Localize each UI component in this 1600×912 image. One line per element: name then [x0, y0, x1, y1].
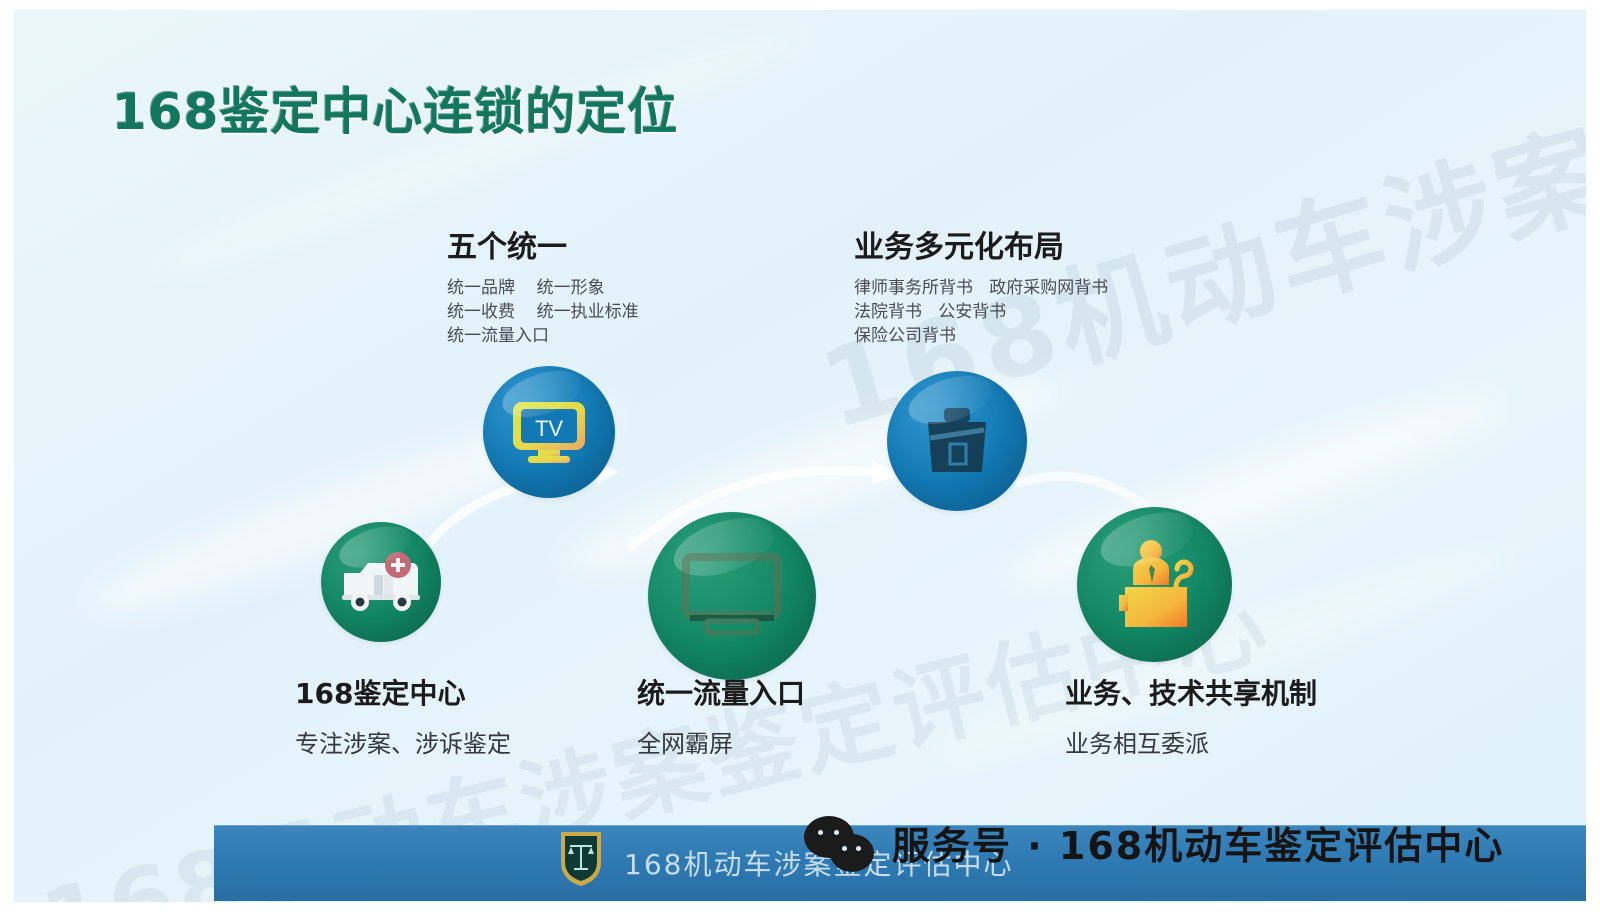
- node-label-sharing-mechanism: 业务、技术共享机制 业务相互委派: [1065, 672, 1317, 759]
- page-title: 168鉴定中心连锁的定位: [112, 72, 678, 144]
- block-heading: 五个统一: [447, 222, 639, 266]
- scales-shield-icon: [558, 828, 604, 888]
- label-title: 168鉴定中心: [295, 672, 511, 712]
- text-block-five-unified: 五个统一 统一品牌 统一形象 统一收费 统一执业标准 统一流量入口: [447, 222, 639, 348]
- block-line: 统一收费 统一执业标准: [447, 300, 639, 324]
- block-line: 统一品牌 统一形象: [447, 276, 639, 300]
- monitor-icon: [680, 553, 784, 639]
- block-heading: 业务多元化布局: [854, 222, 1108, 266]
- wechat-bubbles-icon: [804, 816, 878, 870]
- overlay-caption-text: 服务号 · 168机动车鉴定评估中心: [892, 815, 1504, 870]
- block-line: 法院背书 公安背书: [854, 300, 1108, 324]
- slide-canvas: 168机动车涉案鉴定评估中心 168机动车涉案鉴定评估中心 168鉴定中心连锁的…: [14, 10, 1586, 902]
- node-circle-monitor[interactable]: [648, 512, 816, 680]
- node-label-unified-traffic: 统一流量入口 全网霸屏: [637, 672, 805, 759]
- block-line: 统一流量入口: [447, 324, 639, 348]
- block-line: 律师事务所背书 政府采购网背书: [854, 276, 1108, 300]
- label-title: 统一流量入口: [637, 672, 805, 712]
- label-title: 业务、技术共享机制: [1065, 672, 1317, 712]
- label-subtitle: 业务相互委派: [1065, 724, 1317, 759]
- overlay-caption: 服务号 · 168机动车鉴定评估中心: [804, 815, 1504, 870]
- label-subtitle: 全网霸屏: [637, 724, 805, 759]
- text-block-business-diversification: 业务多元化布局 律师事务所背书 政府采购网背书 法院背书 公安背书 保险公司背书: [854, 222, 1108, 348]
- node-circle-briefcase[interactable]: [887, 371, 1027, 511]
- label-subtitle: 专注涉案、涉诉鉴定: [295, 724, 511, 759]
- node-label-168-center: 168鉴定中心 专注涉案、涉诉鉴定: [295, 672, 511, 759]
- svg-text:TV: TV: [535, 416, 563, 441]
- node-circle-tv[interactable]: TV: [483, 366, 615, 498]
- node-circle-podium[interactable]: [1077, 507, 1232, 662]
- node-circle-ambulance[interactable]: [321, 522, 441, 642]
- block-line: 保险公司背书: [854, 324, 1108, 348]
